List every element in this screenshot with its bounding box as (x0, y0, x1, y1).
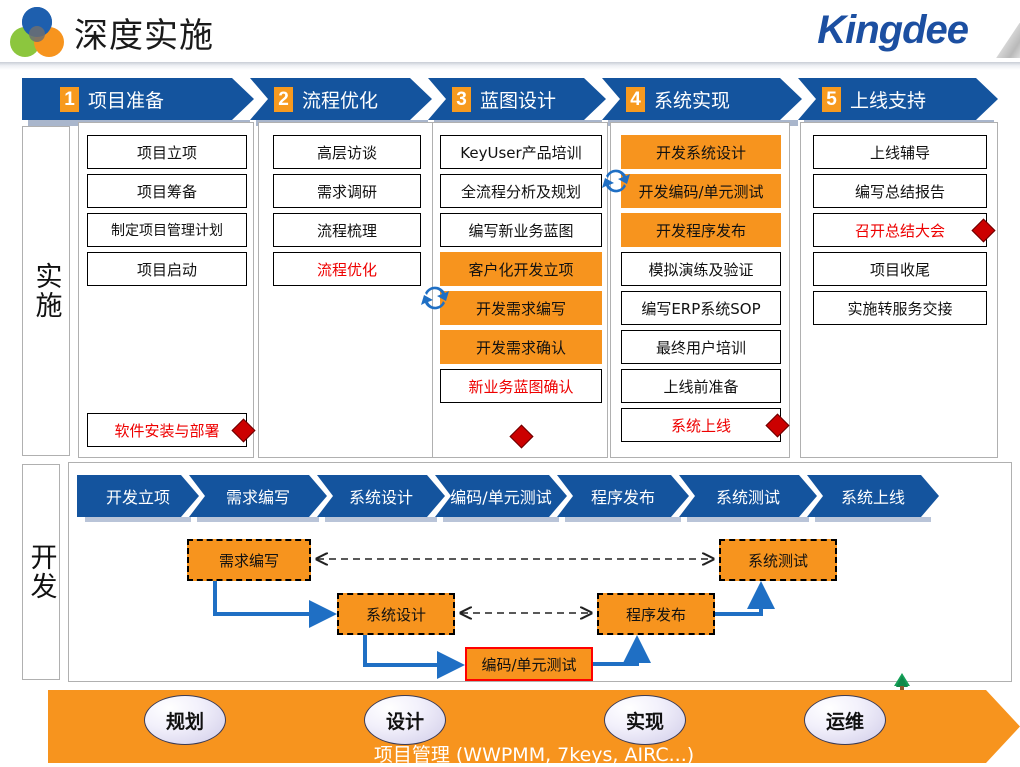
task-box[interactable]: 制定项目管理计划 (87, 213, 247, 247)
step-banner-4[interactable]: 4系统实现 (602, 78, 802, 120)
chevron-step-4[interactable]: 编码/单元测试 (435, 475, 567, 517)
phase-step-banner: 1项目准备2流程优化3蓝图设计4系统实现5上线支持 (0, 78, 1020, 122)
task-box[interactable]: 编写ERP系统SOP (621, 291, 781, 325)
chevron-shadow (687, 517, 809, 522)
step-label: 系统实现 (654, 86, 730, 113)
step-number: 2 (274, 87, 293, 112)
task-box[interactable]: 开发程序发布 (621, 213, 781, 247)
bottom-phase-1[interactable]: 规划 (144, 695, 226, 745)
dev-box-des[interactable]: 系统设计 (337, 593, 455, 635)
step-banner-3[interactable]: 3蓝图设计 (428, 78, 606, 120)
task-box[interactable]: 项目启动 (87, 252, 247, 286)
chevron-step-5[interactable]: 程序发布 (557, 475, 689, 517)
page-header: 深度实施 Kingdee (0, 0, 1020, 70)
chevron-shadow (197, 517, 319, 522)
task-box[interactable]: 编写总结报告 (813, 174, 987, 208)
dev-box-rel[interactable]: 程序发布 (597, 593, 715, 635)
chevron-shadow (443, 517, 559, 522)
cycle-arrows-icon (599, 164, 633, 198)
task-box[interactable]: 需求调研 (273, 174, 421, 208)
step-label: 蓝图设计 (480, 86, 556, 113)
chevron-step-2[interactable]: 需求编写 (189, 475, 327, 517)
task-box[interactable]: 软件安装与部署 (87, 413, 247, 447)
page-curl-icon (980, 0, 1020, 58)
bottom-phase-2[interactable]: 设计 (364, 695, 446, 745)
step-banner-2[interactable]: 2流程优化 (250, 78, 432, 120)
chevron-shadow (815, 517, 931, 522)
chevron-step-7[interactable]: 系统上线 (807, 475, 939, 517)
development-panel: 开发立项需求编写系统设计编码/单元测试程序发布系统测试系统上线需求编写系统测试系… (68, 462, 1012, 682)
bottom-phase-3[interactable]: 实现 (604, 695, 686, 745)
bottom-phase-4[interactable]: 运维 (804, 695, 886, 745)
task-box[interactable]: 模拟演练及验证 (621, 252, 781, 286)
step-label: 上线支持 (850, 86, 926, 113)
connector-code-to-rel (593, 643, 637, 664)
task-box[interactable]: 开发需求编写 (440, 291, 602, 325)
connector-des-to-code (365, 635, 457, 665)
task-box[interactable]: 客户化开发立项 (440, 252, 602, 286)
task-box[interactable]: 项目筹备 (87, 174, 247, 208)
task-box[interactable]: 召开总结大会 (813, 213, 987, 247)
connector-req-to-des (215, 581, 329, 614)
dev-box-req[interactable]: 需求编写 (187, 539, 311, 581)
page-title: 深度实施 (74, 8, 214, 57)
chevron-step-3[interactable]: 系统设计 (317, 475, 445, 517)
task-box[interactable]: 流程优化 (273, 252, 421, 286)
chevron-shadow (85, 517, 191, 522)
implementation-column-1: 项目立项项目筹备制定项目管理计划项目启动软件安装与部署 (78, 122, 254, 458)
task-box[interactable]: 最终用户培训 (621, 330, 781, 364)
task-box[interactable]: 项目收尾 (813, 252, 987, 286)
task-box[interactable]: KeyUser产品培训 (440, 135, 602, 169)
task-box[interactable]: 上线辅导 (813, 135, 987, 169)
step-label: 项目准备 (88, 86, 164, 113)
milestone-diamond (509, 424, 533, 448)
step-banner-5[interactable]: 5上线支持 (798, 78, 998, 120)
cycle-arrows-icon (418, 281, 452, 315)
task-box[interactable]: 编写新业务蓝图 (440, 213, 602, 247)
task-box[interactable]: 项目立项 (87, 135, 247, 169)
connector-rel-to-test (715, 589, 761, 614)
implementation-column-3: KeyUser产品培训全流程分析及规划编写新业务蓝图客户化开发立项开发需求编写开… (432, 122, 608, 458)
development-row: 开发 开发立项需求编写系统设计编码/单元测试程序发布系统测试系统上线需求编写系统… (0, 462, 1020, 684)
header-divider (0, 62, 1020, 70)
task-box[interactable]: 高层访谈 (273, 135, 421, 169)
development-row-label: 开发 (22, 464, 60, 680)
step-label: 流程优化 (302, 86, 378, 113)
task-box[interactable]: 开发编码/单元测试 (621, 174, 781, 208)
implementation-row: 实施 项目立项项目筹备制定项目管理计划项目启动软件安装与部署高层访谈需求调研流程… (0, 122, 1020, 460)
implementation-column-5: 上线辅导编写总结报告召开总结大会项目收尾实施转服务交接 (800, 122, 998, 458)
kingdee-brand-logo: Kingdee (817, 8, 968, 53)
chevron-shadow (325, 517, 437, 522)
step-number: 5 (822, 87, 841, 112)
dev-box-code[interactable]: 编码/单元测试 (465, 647, 593, 681)
step-number: 3 (452, 87, 471, 112)
task-box[interactable]: 流程梳理 (273, 213, 421, 247)
implementation-column-2: 高层访谈需求调研流程梳理流程优化 (258, 122, 434, 458)
task-box[interactable]: 新业务蓝图确认 (440, 369, 602, 403)
chevron-step-6[interactable]: 系统测试 (679, 475, 817, 517)
implementation-column-4: 开发系统设计开发编码/单元测试开发程序发布模拟演练及验证编写ERP系统SOP最终… (610, 122, 790, 458)
task-box[interactable]: 实施转服务交接 (813, 291, 987, 325)
task-box[interactable]: 开发需求确认 (440, 330, 602, 364)
chevron-step-1[interactable]: 开发立项 (77, 475, 199, 517)
step-number: 4 (626, 87, 645, 112)
step-banner-1[interactable]: 1项目准备 (22, 78, 254, 120)
task-box[interactable]: 开发系统设计 (621, 135, 781, 169)
task-box[interactable]: 全流程分析及规划 (440, 174, 602, 208)
step-number: 1 (60, 87, 79, 112)
task-box[interactable]: 上线前准备 (621, 369, 781, 403)
task-box[interactable]: 系统上线 (621, 408, 781, 442)
bottom-phase-bar: 项目管理 (WWPMM, 7keys, AIRC...) 规划设计实现运维 (0, 690, 1020, 763)
implementation-row-label: 实施 (22, 126, 70, 456)
chevron-shadow (565, 517, 681, 522)
bottom-arrow-shape: 项目管理 (WWPMM, 7keys, AIRC...) 规划设计实现运维 (48, 690, 1020, 763)
venn-circles-logo (8, 6, 66, 60)
dev-box-test[interactable]: 系统测试 (719, 539, 837, 581)
